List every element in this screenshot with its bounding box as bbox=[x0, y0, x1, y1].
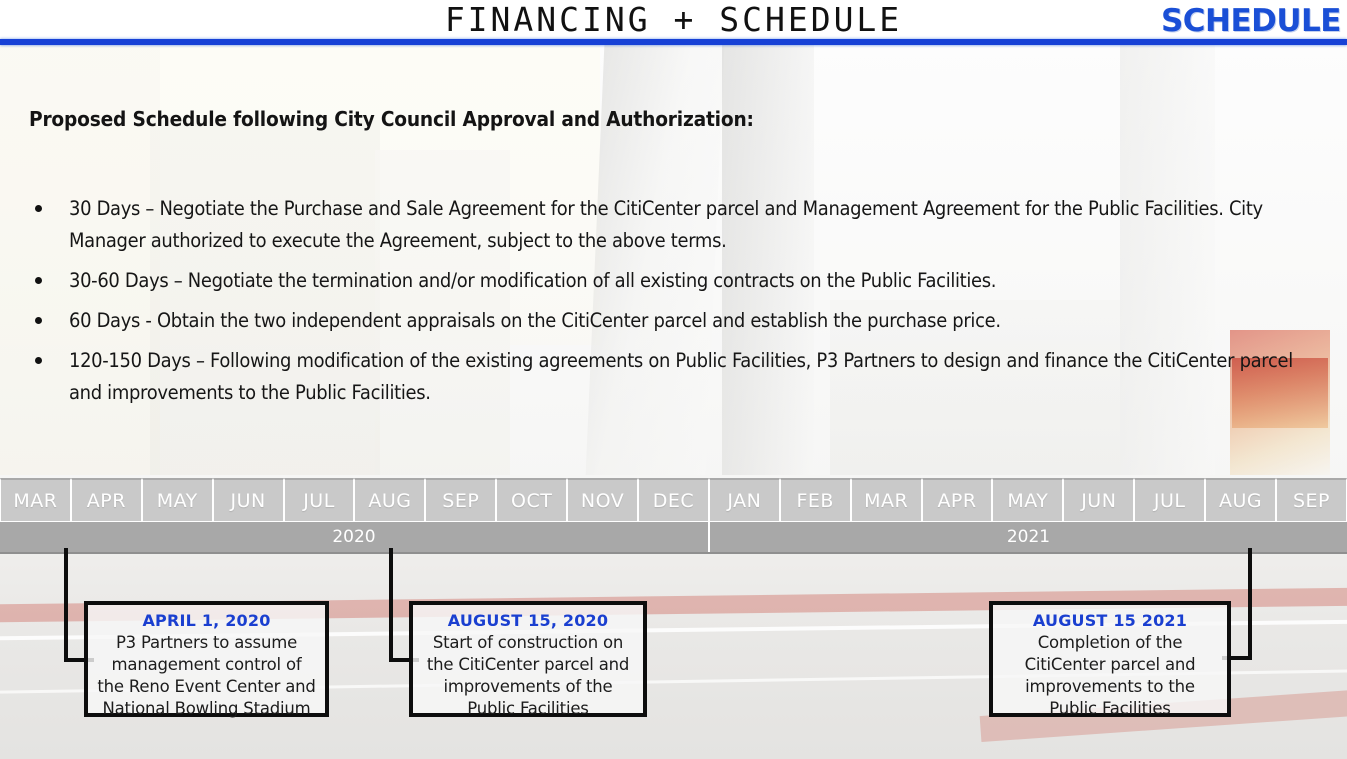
timeline-month-cell[interactable]: JUN bbox=[1063, 478, 1134, 522]
milestone-date: AUGUST 15 2021 bbox=[1001, 611, 1219, 630]
milestone-callout-3[interactable]: AUGUST 15 2021 Completion of the CitiCen… bbox=[989, 601, 1231, 717]
section-label: SCHEDULE bbox=[1161, 2, 1341, 40]
timeline-year-2020: 2020 bbox=[0, 522, 710, 552]
page-title: FINANCING + SCHEDULE bbox=[0, 0, 1347, 40]
timeline-month-cell[interactable]: SEP bbox=[1276, 478, 1347, 522]
timeline-month-cell[interactable]: MAY bbox=[142, 478, 213, 522]
list-item-text: 120-150 Days – Following modification of… bbox=[69, 345, 1324, 409]
timeline-month-cell[interactable]: DEC bbox=[638, 478, 709, 522]
timeline-month-cell[interactable]: OCT bbox=[496, 478, 567, 522]
timeline-month-cell[interactable]: FEB bbox=[780, 478, 851, 522]
list-item-text: 30-60 Days – Negotiate the termination a… bbox=[69, 265, 1324, 297]
timeline-month-cell[interactable]: NOV bbox=[567, 478, 638, 522]
bullet-list: 30 Days – Negotiate the Purchase and Sal… bbox=[29, 193, 1324, 417]
timeline-year-row: 2020 2021 bbox=[0, 522, 1347, 554]
list-item-text: 30 Days – Negotiate the Purchase and Sal… bbox=[69, 193, 1324, 257]
list-item-text: 60 Days - Obtain the two independent app… bbox=[69, 305, 1324, 337]
list-item: 30 Days – Negotiate the Purchase and Sal… bbox=[29, 193, 1324, 257]
milestone-body: Start of construction on the CitiCenter … bbox=[421, 632, 635, 720]
milestone-body: P3 Partners to assume management control… bbox=[96, 632, 317, 720]
milestone-body: Completion of the CitiCenter parcel and … bbox=[1001, 632, 1219, 720]
bullet-dot-icon bbox=[35, 357, 42, 364]
timeline-month-row: MAR APR MAY JUN JUL AUG SEP OCT NOV DEC … bbox=[0, 478, 1347, 522]
timeline-month-cell[interactable]: MAY bbox=[992, 478, 1063, 522]
slide: FINANCING + SCHEDULE SCHEDULE Proposed S… bbox=[0, 0, 1347, 759]
header-divider bbox=[0, 39, 1347, 45]
bullet-dot-icon bbox=[35, 317, 42, 324]
timeline-month-cell[interactable]: AUG bbox=[354, 478, 425, 522]
milestone-callout-1[interactable]: APRIL 1, 2020 P3 Partners to assume mana… bbox=[84, 601, 329, 717]
timeline-month-cell[interactable]: MAR bbox=[851, 478, 922, 522]
timeline: MAR APR MAY JUN JUL AUG SEP OCT NOV DEC … bbox=[0, 478, 1347, 554]
list-item: 60 Days - Obtain the two independent app… bbox=[29, 305, 1324, 337]
bullet-dot-icon bbox=[35, 277, 42, 284]
slide-header: FINANCING + SCHEDULE SCHEDULE bbox=[0, 0, 1347, 40]
list-item: 30-60 Days – Negotiate the termination a… bbox=[29, 265, 1324, 297]
milestone-date: AUGUST 15, 2020 bbox=[421, 611, 635, 630]
timeline-month-cell[interactable]: SEP bbox=[425, 478, 496, 522]
timeline-month-cell[interactable]: APR bbox=[922, 478, 993, 522]
timeline-month-cell[interactable]: JUL bbox=[284, 478, 355, 522]
timeline-month-cell[interactable]: APR bbox=[71, 478, 142, 522]
bullet-dot-icon bbox=[35, 205, 42, 212]
timeline-month-cell[interactable]: JAN bbox=[709, 478, 780, 522]
timeline-month-cell[interactable]: JUN bbox=[213, 478, 284, 522]
lead-heading: Proposed Schedule following City Council… bbox=[29, 107, 754, 131]
milestone-callout-2[interactable]: AUGUST 15, 2020 Start of construction on… bbox=[409, 601, 647, 717]
timeline-month-cell[interactable]: MAR bbox=[0, 478, 71, 522]
list-item: 120-150 Days – Following modification of… bbox=[29, 345, 1324, 409]
milestone-date: APRIL 1, 2020 bbox=[96, 611, 317, 630]
timeline-month-cell[interactable]: AUG bbox=[1205, 478, 1276, 522]
timeline-month-cell[interactable]: JUL bbox=[1134, 478, 1205, 522]
